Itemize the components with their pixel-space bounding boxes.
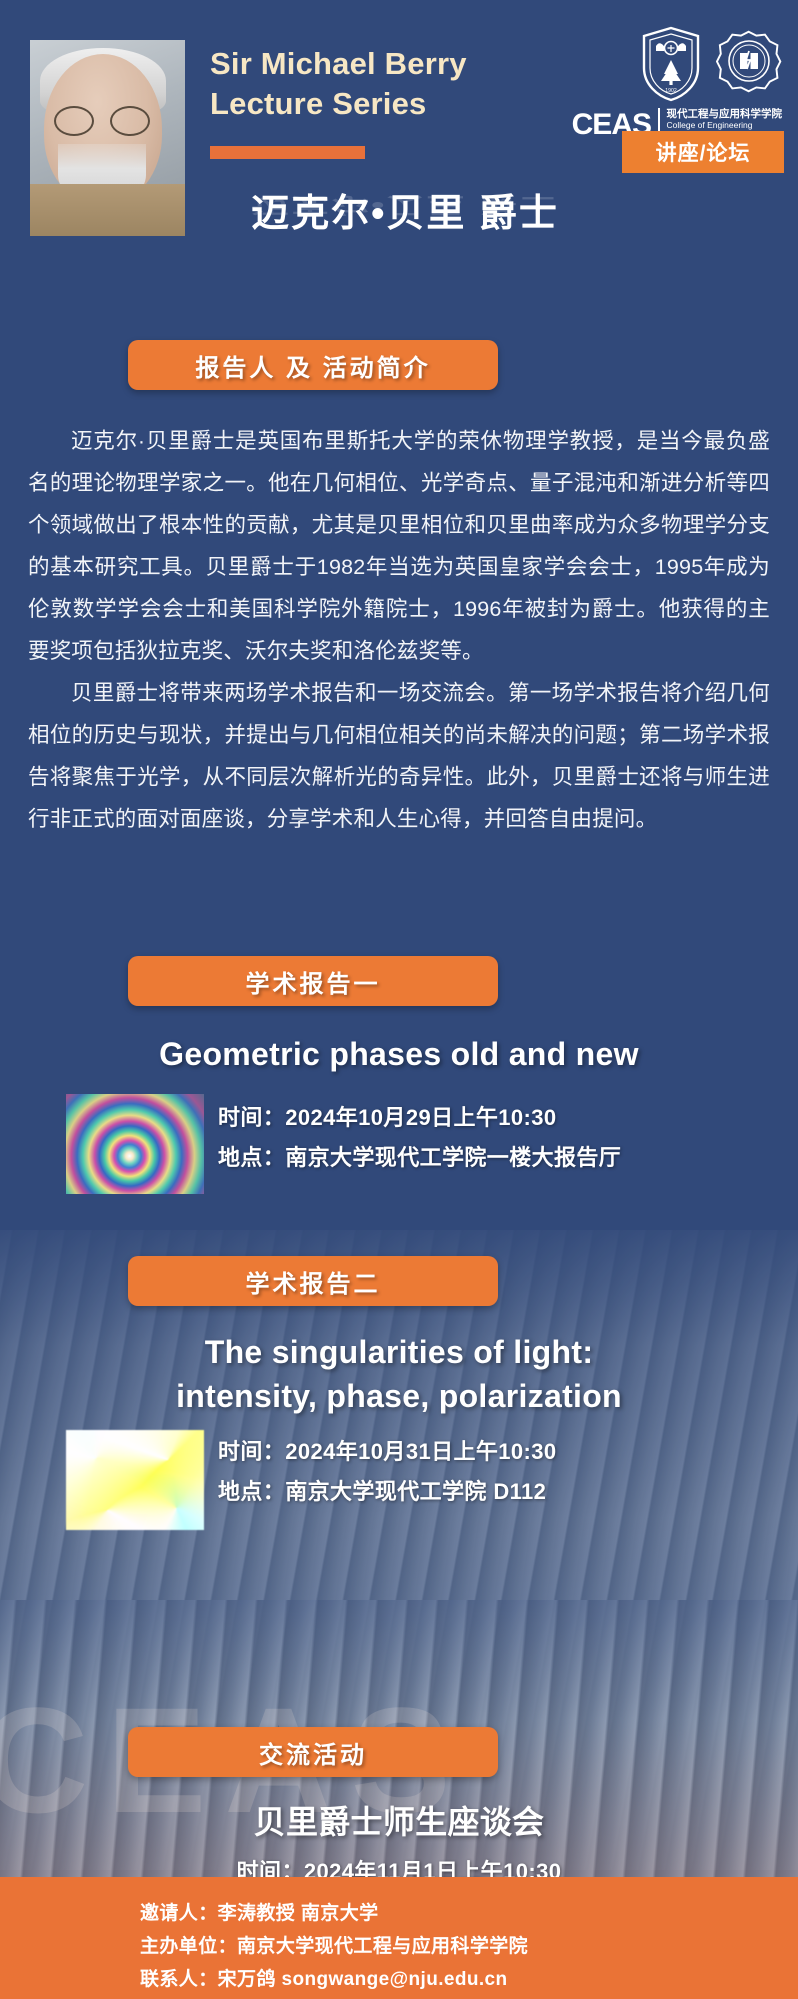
lecture-2-place-value: 南京大学现代工学院 D112 bbox=[285, 1479, 546, 1504]
lecture-1-time-label: 时间： bbox=[218, 1105, 285, 1130]
nju-crest-icon: 1902 bbox=[640, 26, 702, 107]
ceas-subtitle-cn: 现代工程与应用科学学院 bbox=[667, 109, 783, 120]
footer-inviter-label: 邀请人： bbox=[140, 1903, 218, 1924]
ceas-crest-icon bbox=[716, 26, 782, 107]
poster-footer: 邀请人：李涛教授 南京大学 主办单位：南京大学现代工程与应用科学学院 联系人：宋… bbox=[0, 1877, 798, 1999]
lecture-series-title-en: Sir Michael Berry Lecture Series bbox=[210, 44, 560, 125]
poster-header: Sir Michael Berry Lecture Series 迈克尔•贝里 … bbox=[0, 0, 798, 265]
footer-contact-label: 联系人： bbox=[140, 1969, 218, 1990]
banner-lecture-2: 学术报告二 bbox=[128, 1256, 498, 1306]
lecture-2-title: The singularities of light: intensity, p… bbox=[0, 1330, 798, 1418]
banner-lecture-1: 学术报告一 bbox=[128, 956, 498, 1006]
title-divider-rule bbox=[210, 146, 365, 159]
footer-organizer-row: 主办单位：南京大学现代工程与应用科学学院 bbox=[140, 1930, 528, 1963]
intro-paragraph-1: 迈克尔·贝里爵士是英国布里斯托大学的荣休物理学教授，是当今最负盛名的理论物理学家… bbox=[28, 420, 770, 672]
ceas-subtitle-en1: College of Engineering bbox=[667, 120, 783, 131]
lecture-2-place-row: 地点：南京大学现代工学院 D112 bbox=[218, 1472, 557, 1512]
logo-group: 1902 bbox=[640, 26, 782, 107]
lecture-2-title-line1: The singularities of light: bbox=[0, 1330, 798, 1374]
lecture-1-place-label: 地点： bbox=[218, 1145, 285, 1170]
intro-text-block: 迈克尔·贝里爵士是英国布里斯托大学的荣休物理学教授，是当今最负盛名的理论物理学家… bbox=[28, 420, 770, 840]
footer-text-block: 邀请人：李涛教授 南京大学 主办单位：南京大学现代工程与应用科学学院 联系人：宋… bbox=[140, 1897, 528, 1996]
phase-map-thumbnail bbox=[66, 1430, 204, 1530]
footer-organizer-label: 主办单位： bbox=[140, 1936, 237, 1957]
interference-rings-thumbnail bbox=[66, 1094, 204, 1194]
lecture-2-time-value: 2024年10月31日上午10:30 bbox=[285, 1439, 556, 1464]
category-tag-badge: 讲座/论坛 bbox=[622, 131, 784, 173]
banner-intro: 报告人 及 活动简介 bbox=[128, 340, 498, 390]
footer-organizer-value: 南京大学现代工程与应用科学学院 bbox=[237, 1936, 528, 1957]
footer-inviter-value: 李涛教授 南京大学 bbox=[218, 1903, 379, 1924]
title-en-line1: Sir Michael Berry bbox=[210, 44, 560, 84]
speaker-portrait bbox=[30, 40, 185, 236]
poster-root: CEAS Sir Michael Berry Lecture Series 迈克… bbox=[0, 0, 798, 1999]
lecture-1-time-value: 2024年10月29日上午10:30 bbox=[285, 1105, 556, 1130]
footer-contact-row: 联系人：宋万鸽 songwange@nju.edu.cn bbox=[140, 1963, 528, 1996]
lecture-1-time-row: 时间：2024年10月29日上午10:30 bbox=[218, 1098, 621, 1138]
lecture-2-time-label: 时间： bbox=[218, 1439, 285, 1464]
intro-paragraph-2: 贝里爵士将带来两场学术报告和一场交流会。第一场学术报告将介绍几何相位的历史与现状… bbox=[28, 672, 770, 840]
lecture-2-time-row: 时间：2024年10月31日上午10:30 bbox=[218, 1432, 557, 1472]
lecture-1-title: Geometric phases old and new bbox=[0, 1032, 798, 1076]
lecture-2-details: 时间：2024年10月31日上午10:30 地点：南京大学现代工学院 D112 bbox=[218, 1432, 557, 1512]
footer-contact-value: 宋万鸽 songwange@nju.edu.cn bbox=[218, 1969, 508, 1990]
lecture-1-place-value: 南京大学现代工学院一楼大报告厅 bbox=[285, 1145, 621, 1170]
speaker-name-cn-reflection: 迈克尔•贝里 爵士 bbox=[195, 192, 615, 222]
footer-inviter-row: 邀请人：李涛教授 南京大学 bbox=[140, 1897, 528, 1930]
lecture-2-place-label: 地点： bbox=[218, 1479, 285, 1504]
glasses-icon bbox=[54, 106, 150, 132]
lecture-1-place-row: 地点：南京大学现代工学院一楼大报告厅 bbox=[218, 1138, 621, 1178]
portrait-jacket bbox=[30, 184, 185, 236]
banner-forum: 交流活动 bbox=[128, 1727, 498, 1777]
lecture-1-details: 时间：2024年10月29日上午10:30 地点：南京大学现代工学院一楼大报告厅 bbox=[218, 1098, 621, 1178]
svg-text:1902: 1902 bbox=[665, 88, 677, 94]
forum-title: 贝里爵士师生座谈会 bbox=[0, 1800, 798, 1844]
title-en-line2: Lecture Series bbox=[210, 84, 560, 124]
lecture-2-title-line2: intensity, phase, polarization bbox=[0, 1374, 798, 1418]
